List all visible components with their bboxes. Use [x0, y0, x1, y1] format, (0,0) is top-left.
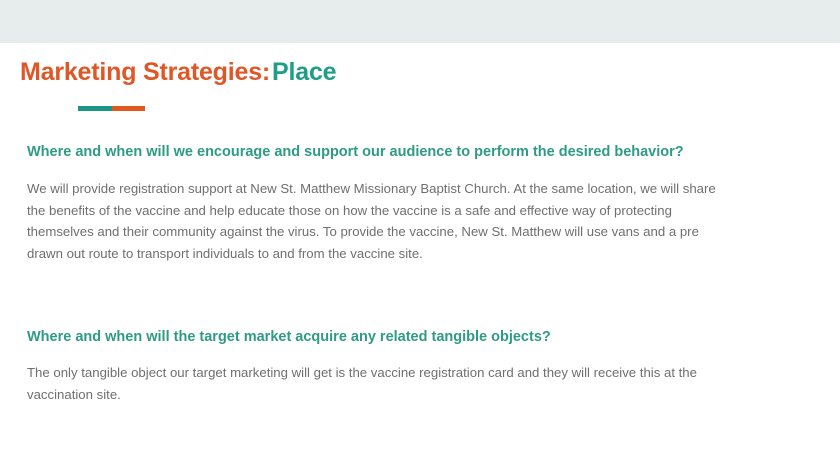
question-heading-1: Where and when will we encourage and sup…: [27, 141, 707, 164]
title-accent-bar: [78, 106, 145, 111]
qa-block-place-timing: Where and when will we encourage and sup…: [27, 141, 727, 264]
answer-text-1: We will provide registration support at …: [27, 178, 717, 264]
accent-bar-teal-segment: [78, 106, 112, 111]
page-title-main: Marketing Strategies:: [20, 58, 270, 86]
qa-block-tangible-objects: Where and when will the target market ac…: [27, 326, 727, 405]
slide-content: Where and when will we encourage and sup…: [27, 141, 727, 405]
slide-canvas: Marketing Strategies:Place Where and whe…: [0, 0, 840, 472]
top-header-band: [0, 0, 840, 43]
accent-bar-orange-segment: [112, 106, 146, 111]
page-title: Marketing Strategies:Place: [20, 57, 336, 87]
answer-text-2: The only tangible object our target mark…: [27, 362, 717, 405]
page-title-accent: Place: [272, 58, 336, 86]
question-heading-2: Where and when will the target market ac…: [27, 326, 727, 349]
